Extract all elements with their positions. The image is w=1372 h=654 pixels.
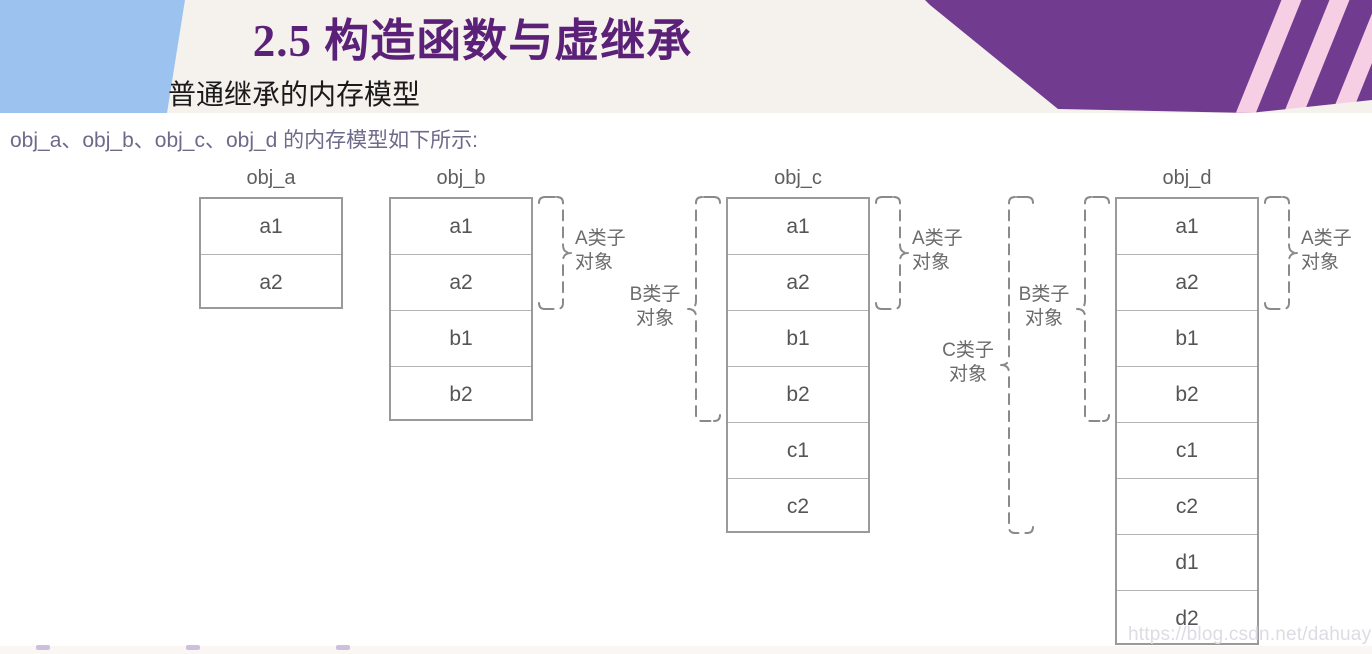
memory-cell: c2 bbox=[1117, 479, 1257, 535]
memory-cell: c1 bbox=[1117, 423, 1257, 479]
brace-label-A类子: A类子对象 bbox=[575, 227, 626, 275]
memory-cell: d1 bbox=[1117, 535, 1257, 591]
brace-label-line1: B类子 bbox=[622, 283, 688, 307]
footer-tick-3 bbox=[336, 645, 350, 650]
brace-C类子 bbox=[997, 185, 1035, 545]
brace-label-line2: 对象 bbox=[575, 251, 626, 275]
brace-label-line2: 对象 bbox=[935, 363, 1001, 387]
memory-cell: a1 bbox=[728, 199, 868, 255]
memory-cell: b2 bbox=[391, 367, 531, 423]
brace-label-line2: 对象 bbox=[1301, 251, 1352, 275]
brace-A类子 bbox=[874, 185, 912, 321]
object-label-obj_c: obj_c bbox=[726, 167, 870, 190]
brace-B类子 bbox=[1073, 185, 1111, 433]
memory-cell: c2 bbox=[728, 479, 868, 535]
memory-box-obj_a: a1a2 bbox=[199, 197, 343, 309]
object-label-obj_a: obj_a bbox=[199, 167, 343, 190]
memory-box-obj_d: a1a2b1b2c1c2d1d2 bbox=[1115, 197, 1259, 645]
brace-label-A类子: A类子对象 bbox=[1301, 227, 1352, 275]
brace-label-A类子: A类子对象 bbox=[912, 227, 963, 275]
memory-model-diagram: obj_aa1a2obj_ba1a2b1b2A类子对象obj_ca1a2b1b2… bbox=[0, 0, 1372, 654]
footer-decoration bbox=[0, 646, 1372, 654]
memory-cell: b1 bbox=[391, 311, 531, 367]
memory-cell: b2 bbox=[728, 367, 868, 423]
memory-cell: b1 bbox=[728, 311, 868, 367]
brace-label-line1: A类子 bbox=[575, 227, 626, 251]
brace-label-line1: A类子 bbox=[912, 227, 963, 251]
footer-tick-1 bbox=[36, 645, 50, 650]
brace-B类子 bbox=[684, 185, 722, 433]
memory-cell: a2 bbox=[201, 255, 341, 311]
object-label-obj_d: obj_d bbox=[1115, 167, 1259, 190]
memory-box-obj_c: a1a2b1b2c1c2 bbox=[726, 197, 870, 533]
memory-cell: a1 bbox=[1117, 199, 1257, 255]
object-label-obj_b: obj_b bbox=[389, 167, 533, 190]
memory-cell: a1 bbox=[391, 199, 531, 255]
memory-box-obj_b: a1a2b1b2 bbox=[389, 197, 533, 421]
brace-label-B类子: B类子对象 bbox=[622, 283, 688, 331]
brace-A类子 bbox=[1263, 185, 1301, 321]
brace-label-line2: 对象 bbox=[622, 307, 688, 331]
brace-label-line2: 对象 bbox=[912, 251, 963, 275]
brace-label-line1: C类子 bbox=[935, 339, 1001, 363]
watermark: https://blog.csdn.net/dahuayaoer bbox=[1128, 624, 1372, 646]
memory-cell: b1 bbox=[1117, 311, 1257, 367]
memory-cell: a2 bbox=[391, 255, 531, 311]
memory-cell: a2 bbox=[1117, 255, 1257, 311]
memory-cell: b2 bbox=[1117, 367, 1257, 423]
brace-label-C类子: C类子对象 bbox=[935, 339, 1001, 387]
memory-cell: c1 bbox=[728, 423, 868, 479]
brace-label-line1: A类子 bbox=[1301, 227, 1352, 251]
footer-tick-2 bbox=[186, 645, 200, 650]
memory-cell: a2 bbox=[728, 255, 868, 311]
brace-A类子 bbox=[537, 185, 575, 321]
memory-cell: a1 bbox=[201, 199, 341, 255]
